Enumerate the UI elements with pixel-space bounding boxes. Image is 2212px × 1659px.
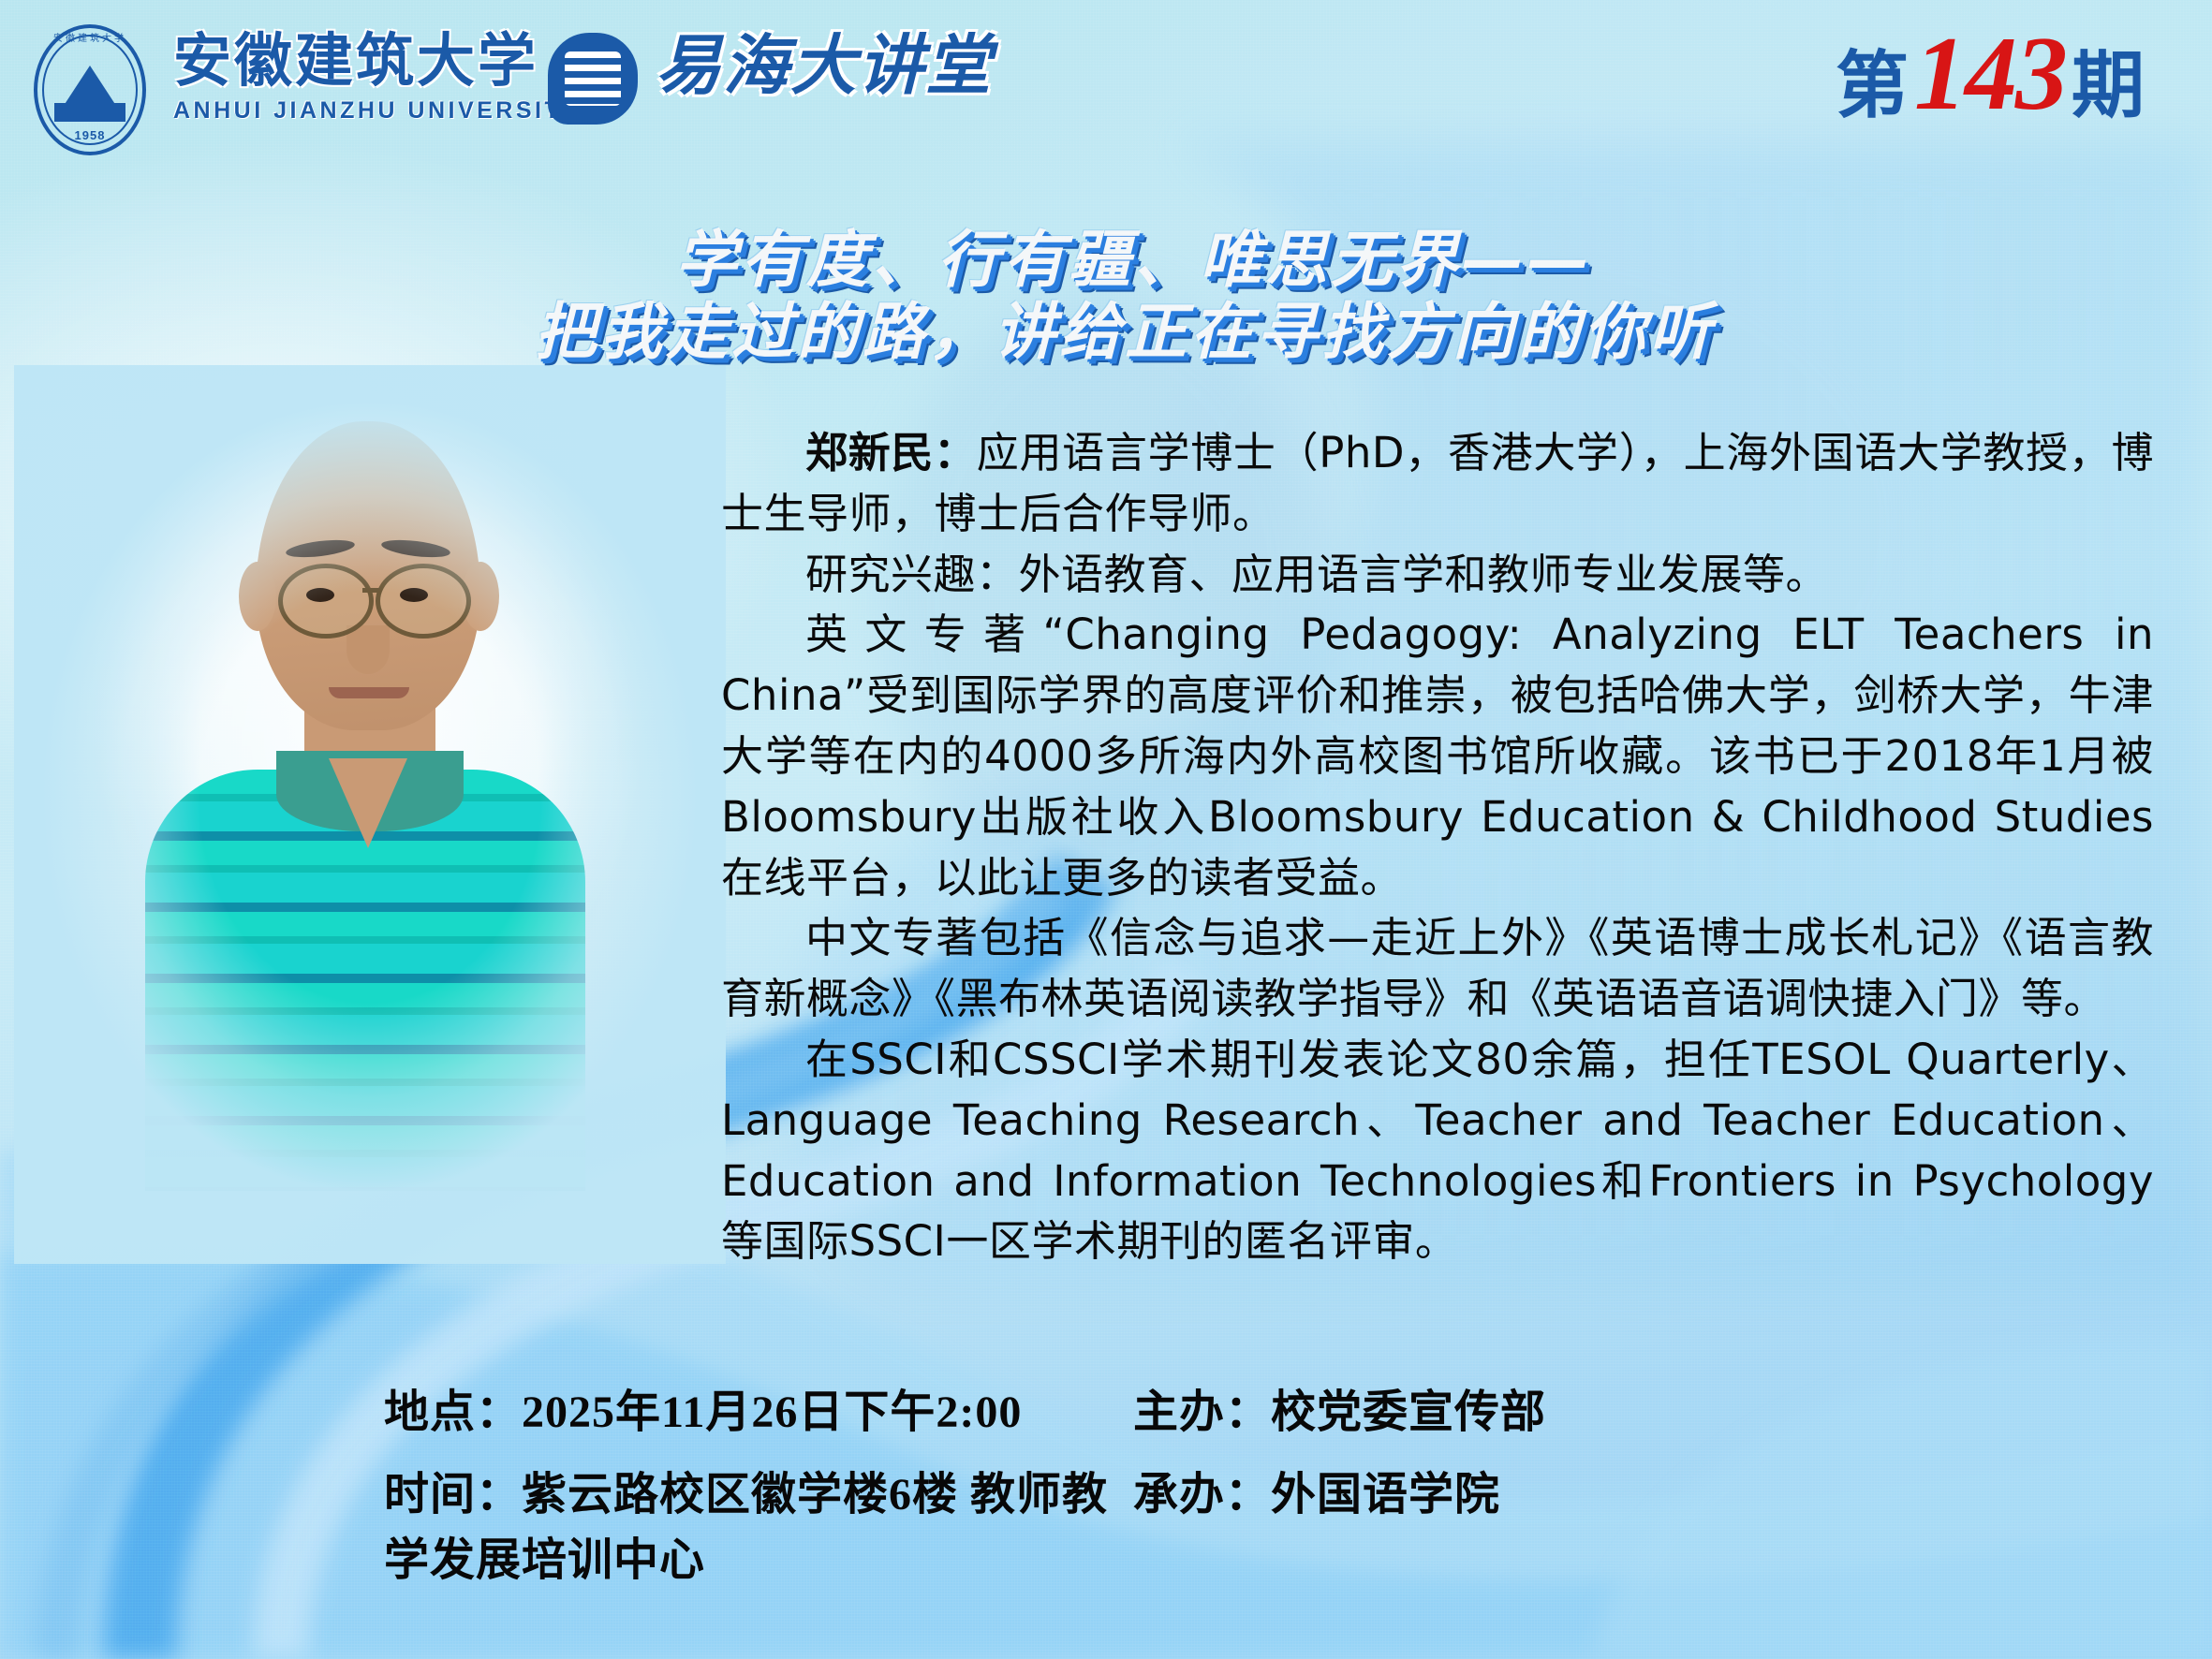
bio-paragraph: 英文专著“Changing Pedagogy: Analyzing ELT Te… [721, 605, 2154, 908]
footer-label-host: 主办： [1133, 1387, 1271, 1437]
issue-number: 143 [1914, 26, 2066, 123]
seal-year: 1958 [34, 128, 146, 142]
poster-header: 安徽建筑大学 1958 安徽建筑大学 ANHUI JIANZHU UNIVERS… [0, 0, 2212, 140]
bio-paragraph: 研究兴趣：外语教育、应用语言学和教师专业发展等。 [721, 545, 2154, 606]
poster-root: 安徽建筑大学 1958 安徽建筑大学 ANHUI JIANZHU UNIVERS… [0, 0, 2212, 1659]
lecture-title: 学有度、行有疆、唯思无界—— 把我走过的路，讲给正在寻找方向的你听 [0, 225, 2212, 368]
lecture-brand-name: 易海大讲堂 [656, 32, 993, 101]
bio-paragraph-name: 郑新民：应用语言学博士（PhD，香港大学），上海外国语大学教授，博士生导师，博士… [721, 423, 2154, 545]
footer-value-coorganizer: 外国语学院 [1271, 1470, 1500, 1520]
bio-paragraph: 在SSCI和CSSCI学术期刊发表论文80余篇，担任TESOL Quarterl… [721, 1030, 2154, 1272]
speaker-portrait [52, 403, 679, 1208]
lecture-brand-speech-bubble-icon [548, 33, 638, 125]
bio-paragraph: 中文专著包括《信念与追求—走近上外》《英语博士成长札记》《语言教育新概念》《黑布… [721, 908, 2154, 1030]
university-name-cn: 安徽建筑大学 [173, 32, 581, 90]
speaker-name: 郑新民： [805, 428, 977, 477]
footer-label-coorganizer: 承办： [1133, 1470, 1271, 1520]
issue-badge: 第 143 期 [1836, 26, 2145, 123]
footer-venue: 时间：紫云路校区徽学楼6楼 教师教学发展培训中心 [0, 1457, 1133, 1588]
footer-row-2: 时间：紫云路校区徽学楼6楼 教师教学发展培训中心 承办：外国语学院 [0, 1457, 2212, 1588]
title-line-1: 学有度、行有疆、唯思无界—— [0, 225, 2212, 297]
issue-prefix: 第 [1836, 50, 1909, 123]
book-stack-icon [565, 51, 621, 106]
footer-organizer: 主办：校党委宣传部 [1133, 1374, 2212, 1440]
seal-top-text: 安徽建筑大学 [34, 30, 146, 44]
portrait-edge-fade [14, 365, 726, 1264]
footer-label-location: 地点： [384, 1387, 522, 1437]
poster-footer: 地点：2025年11月26日下午2:00 主办：校党委宣传部 时间：紫云路校区徽… [0, 1374, 2212, 1605]
university-name-en: ANHUI JIANZHU UNIVERSITY [173, 97, 581, 125]
footer-co-organizer: 承办：外国语学院 [1133, 1457, 2212, 1522]
university-wordmark: 安徽建筑大学 ANHUI JIANZHU UNIVERSITY [173, 32, 581, 125]
speaker-bio: 郑新民：应用语言学博士（PhD，香港大学），上海外国语大学教授，博士生导师，博士… [721, 423, 2154, 1272]
footer-value-host: 校党委宣传部 [1271, 1387, 1546, 1437]
seal-building-base-icon [54, 103, 125, 122]
title-line-2: 把我走过的路，讲给正在寻找方向的你听 [0, 297, 2212, 369]
university-seal-logo: 安徽建筑大学 1958 [34, 24, 146, 155]
footer-label-time: 时间： [384, 1470, 522, 1520]
issue-suffix: 期 [2072, 50, 2145, 123]
footer-value-datetime: 2025年11月26日下午2:00 [522, 1387, 1022, 1437]
footer-row-1: 地点：2025年11月26日下午2:00 主办：校党委宣传部 [0, 1374, 2212, 1440]
footer-datetime: 地点：2025年11月26日下午2:00 [0, 1374, 1133, 1440]
